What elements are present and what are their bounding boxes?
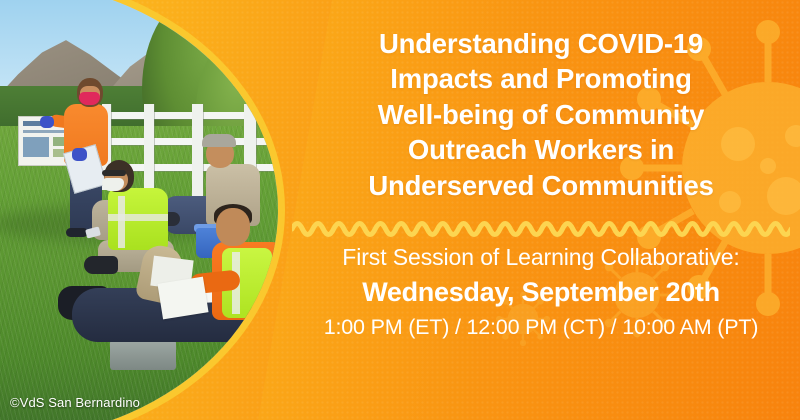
session-subtitle: First Session of Learning Collaborative: xyxy=(294,243,788,272)
session-times: 1:00 PM (ET) / 12:00 PM (CT) / 10:00 AM … xyxy=(294,314,788,342)
hero-photo: ©VdS San Bernardino xyxy=(0,0,300,420)
headline-line: Understanding COVID-19 xyxy=(294,26,788,61)
headline-line: Well-being of Community xyxy=(294,97,788,132)
page-title: Understanding COVID-19 Impacts and Promo… xyxy=(282,0,800,203)
content-column: Understanding COVID-19 Impacts and Promo… xyxy=(282,0,800,420)
headline-line: Underserved Communities xyxy=(294,168,788,203)
photo-clip xyxy=(0,0,300,420)
headline-line: Outreach Workers in xyxy=(294,132,788,167)
photo-credit: ©VdS San Bernardino xyxy=(10,395,140,410)
session-details: First Session of Learning Collaborative:… xyxy=(282,237,800,342)
wave-divider xyxy=(292,215,790,237)
session-date: Wednesday, September 20th xyxy=(294,275,788,310)
webinar-promo-poster: ©VdS San Bernardino Understanding COVID-… xyxy=(0,0,800,420)
headline-line: Impacts and Promoting xyxy=(294,61,788,96)
photo-illustration xyxy=(0,0,300,420)
